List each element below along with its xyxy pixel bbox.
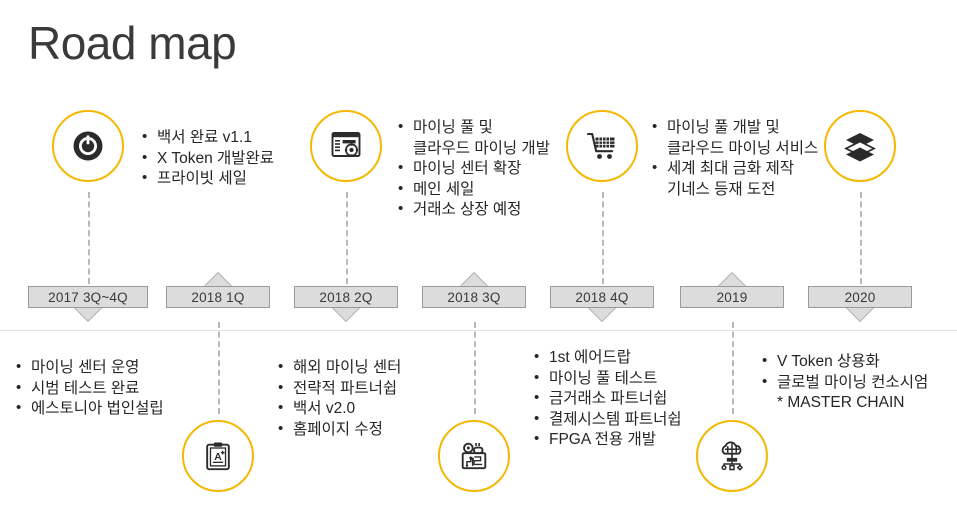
list-item: 프라이빗 세일 bbox=[140, 169, 274, 190]
list-item-continuation: 기네스 등재 도전 bbox=[650, 180, 818, 201]
bottom-bullets-3: 1st 에어드랍 마이닝 풀 테스트 금거래소 파트너쉽 결제시스템 파트너쉽 … bbox=[532, 348, 682, 451]
chip-label: 2018 2Q bbox=[294, 286, 398, 308]
chip-notch bbox=[588, 307, 616, 321]
chip-label: 2019 bbox=[680, 286, 784, 308]
timeline-baseline bbox=[0, 330, 957, 331]
chip-notch bbox=[460, 273, 488, 287]
timeline-chip-2018-4q[interactable]: 2018 4Q bbox=[550, 286, 654, 308]
cloud-network-icon bbox=[716, 440, 748, 472]
list-item: X Token 개발완료 bbox=[140, 149, 274, 170]
connector-bottom-1 bbox=[218, 322, 220, 414]
circuit-chip-icon bbox=[458, 440, 490, 472]
list-item-continuation: 클라우드 마이닝 개발 bbox=[396, 139, 550, 160]
connector-bottom-3 bbox=[732, 322, 734, 414]
list-item: FPGA 전용 개발 bbox=[532, 430, 682, 451]
list-item: 1st 에어드랍 bbox=[532, 348, 682, 369]
svg-text:A: A bbox=[214, 452, 222, 463]
timeline-chip-2018-3q[interactable]: 2018 3Q bbox=[422, 286, 526, 308]
chip-notch bbox=[846, 307, 874, 321]
milestone-circle-clipboard[interactable]: A bbox=[182, 420, 254, 492]
bottom-bullets-1: 마이닝 센터 운영 시범 테스트 완료 에스토니아 법인설립 bbox=[14, 358, 164, 420]
list-item: 백서 v2.0 bbox=[276, 399, 401, 420]
document-settings-icon bbox=[329, 129, 363, 163]
shopping-cart-icon bbox=[585, 129, 619, 163]
list-item-note: * MASTER CHAIN bbox=[760, 393, 928, 414]
layers-stack-icon bbox=[843, 129, 877, 163]
list-item: 마이닝 센터 확장 bbox=[396, 159, 550, 180]
milestone-circle-cart[interactable] bbox=[566, 110, 638, 182]
timeline-chip-2020[interactable]: 2020 bbox=[808, 286, 912, 308]
list-item: 글로벌 마이닝 컨소시엄 bbox=[760, 373, 928, 394]
list-item: 홈페이지 수정 bbox=[276, 420, 401, 441]
list-item: 메인 세일 bbox=[396, 180, 550, 201]
timeline-chip-2017-3q-4q[interactable]: 2017 3Q~4Q bbox=[28, 286, 148, 308]
connector-top-2 bbox=[346, 192, 348, 284]
chip-notch bbox=[718, 273, 746, 287]
list-item: 마이닝 풀 개발 및 bbox=[650, 118, 818, 139]
connector-top-4 bbox=[860, 192, 862, 284]
list-item: 에스토니아 법인설립 bbox=[14, 399, 164, 420]
bottom-bullets-4: V Token 상용화 글로벌 마이닝 컨소시엄 * MASTER CHAIN bbox=[760, 352, 928, 414]
chip-label: 2018 1Q bbox=[166, 286, 270, 308]
top-bullets-3: 마이닝 풀 개발 및 클라우드 마이닝 서비스 세계 최대 금화 제작 기네스 … bbox=[650, 118, 818, 200]
list-item: 결제시스템 파트너쉽 bbox=[532, 410, 682, 431]
timeline-chip-2018-1q[interactable]: 2018 1Q bbox=[166, 286, 270, 308]
list-item: 마이닝 풀 및 bbox=[396, 118, 550, 139]
connector-top-1 bbox=[88, 192, 90, 284]
chip-label: 2020 bbox=[808, 286, 912, 308]
list-item: 백서 완료 v1.1 bbox=[140, 128, 274, 149]
top-bullets-2: 마이닝 풀 및 클라우드 마이닝 개발 마이닝 센터 확장 메인 세일 거래소 … bbox=[396, 118, 550, 221]
connector-top-3 bbox=[602, 192, 604, 284]
list-item: 해외 마이닝 센터 bbox=[276, 358, 401, 379]
list-item: 거래소 상장 예정 bbox=[396, 200, 550, 221]
clipboard-grade-icon: A bbox=[202, 440, 234, 472]
chip-notch bbox=[74, 307, 102, 321]
list-item: 마이닝 풀 테스트 bbox=[532, 369, 682, 390]
top-bullets-1: 백서 완료 v1.1 X Token 개발완료 프라이빗 세일 bbox=[140, 128, 274, 190]
timeline-chip-2018-2q[interactable]: 2018 2Q bbox=[294, 286, 398, 308]
page-title: Road map bbox=[28, 20, 236, 66]
milestone-circle-document-settings[interactable] bbox=[310, 110, 382, 182]
list-item: 전략적 파트너쉽 bbox=[276, 379, 401, 400]
chip-label: 2018 3Q bbox=[422, 286, 526, 308]
power-icon bbox=[71, 129, 105, 163]
bottom-bullets-2: 해외 마이닝 센터 전략적 파트너쉽 백서 v2.0 홈페이지 수정 bbox=[276, 358, 401, 440]
list-item: 시범 테스트 완료 bbox=[14, 379, 164, 400]
list-item: 마이닝 센터 운영 bbox=[14, 358, 164, 379]
milestone-circle-power[interactable] bbox=[52, 110, 124, 182]
milestone-circle-layers[interactable] bbox=[824, 110, 896, 182]
list-item: 금거래소 파트너쉽 bbox=[532, 389, 682, 410]
timeline-chip-2019[interactable]: 2019 bbox=[680, 286, 784, 308]
chip-notch bbox=[204, 273, 232, 287]
chip-label: 2017 3Q~4Q bbox=[28, 286, 148, 308]
chip-label: 2018 4Q bbox=[550, 286, 654, 308]
list-item: 세계 최대 금화 제작 bbox=[650, 159, 818, 180]
chip-notch bbox=[332, 307, 360, 321]
milestone-circle-circuit[interactable] bbox=[438, 420, 510, 492]
list-item: V Token 상용화 bbox=[760, 352, 928, 373]
list-item-continuation: 클라우드 마이닝 서비스 bbox=[650, 139, 818, 160]
connector-bottom-2 bbox=[474, 322, 476, 414]
milestone-circle-cloud-network[interactable] bbox=[696, 420, 768, 492]
